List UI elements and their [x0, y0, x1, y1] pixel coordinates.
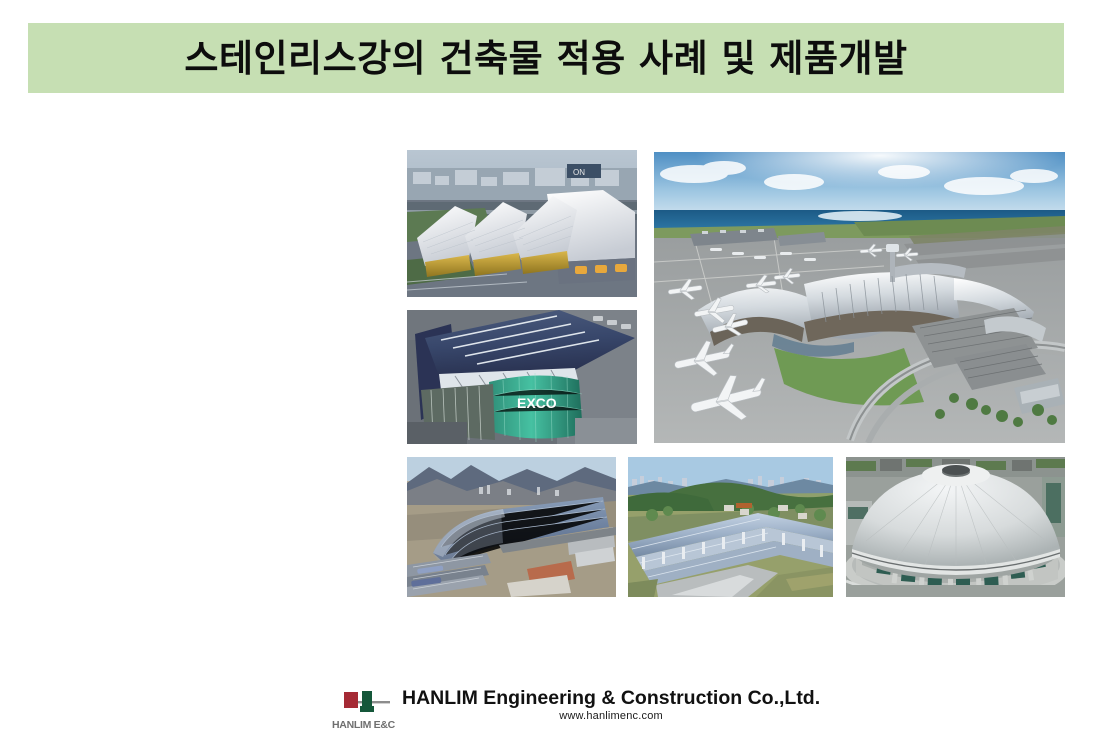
- hanlim-logo-mark: [338, 689, 396, 717]
- photo-dome-stadium: [846, 457, 1065, 597]
- hanlim-logo-caption: HANLIM E&C: [332, 719, 395, 731]
- airport-illustration: [654, 152, 1065, 443]
- company-url[interactable]: www.hanlimenc.com: [402, 710, 820, 722]
- station-illustration: [628, 457, 833, 597]
- exco-sign-text: EXCO: [517, 395, 557, 411]
- footer: HANLIM E&C HANLIM Engineering & Construc…: [0, 683, 1104, 745]
- photo-convention-center-sail-roof: ON: [407, 150, 637, 297]
- hanlim-logo: HANLIM E&C: [330, 685, 400, 737]
- exco-illustration: EXCO: [407, 310, 637, 444]
- svg-text:ON: ON: [573, 168, 585, 177]
- convention-center-illustration: ON: [407, 150, 637, 297]
- photo-railway-station-platform-canopy: [628, 457, 833, 597]
- slide-canvas: 스테인리스강의 건축물 적용 사례 및 제품개발: [0, 0, 1104, 745]
- depot-illustration: [407, 457, 616, 597]
- photo-railway-depot-barrel-roof: [407, 457, 616, 597]
- company-name: HANLIM Engineering & Construction Co.,Lt…: [402, 688, 820, 708]
- photo-exco-convention-center: EXCO: [407, 310, 637, 444]
- dome-illustration: [846, 457, 1065, 597]
- photo-airport-terminal-aerial: [654, 152, 1065, 443]
- image-gallery: ON: [0, 0, 1104, 745]
